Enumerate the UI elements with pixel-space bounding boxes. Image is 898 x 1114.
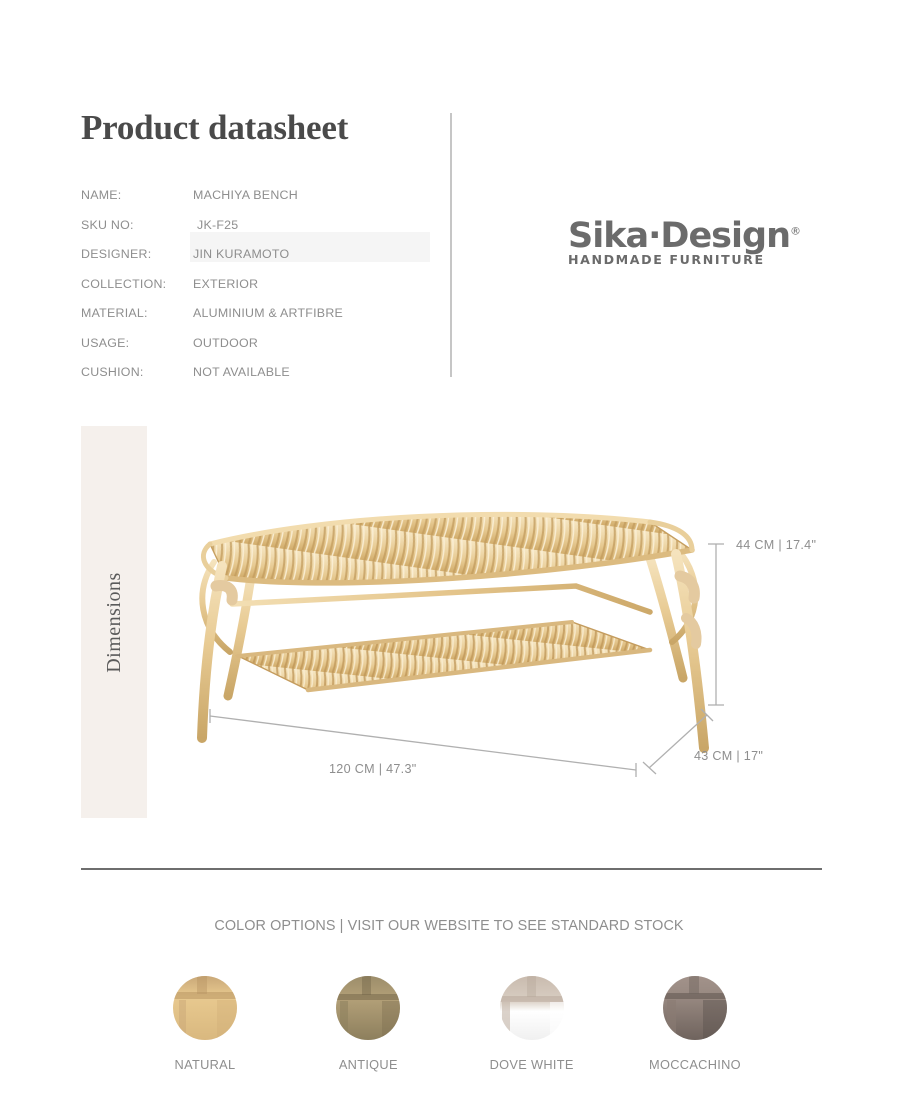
dimensions-side-panel: Dimensions [81,426,147,818]
color-swatch-row: NATURAL ANTIQUE [150,976,750,1072]
color-option-natural[interactable]: NATURAL [150,976,260,1072]
header-vertical-divider [450,113,452,377]
spec-row-collection: COLLECTION: EXTERIOR [81,277,441,307]
section-divider-rule [81,868,822,870]
color-option-antique[interactable]: ANTIQUE [313,976,423,1072]
spec-row-designer: DESIGNER: JIN KURAMOTO [81,247,441,277]
color-label-antique: ANTIQUE [339,1057,398,1072]
spec-label-collection: COLLECTION: [81,277,193,291]
bench-seat [210,514,692,583]
registered-trademark-icon: ® [790,224,801,237]
color-swatch-moccachino[interactable] [663,976,727,1040]
spec-label-material: MATERIAL: [81,306,193,320]
spec-value-sku: JK-F25 [193,218,238,232]
dimension-line-width [210,709,636,777]
brand-logo: Sika·Design® HANDMADE FURNITURE [568,219,793,267]
color-swatch-antique[interactable] [336,976,400,1040]
spec-value-material: ALUMINIUM & ARTFIBRE [193,306,343,320]
dimension-label-height: 44 CM | 17.4" [736,538,816,552]
dimension-label-depth: 43 CM | 17" [694,749,763,763]
spec-row-cushion: CUSHION: NOT AVAILABLE [81,365,441,395]
color-swatch-natural[interactable] [173,976,237,1040]
color-swatch-dove-white[interactable] [500,976,564,1040]
bench-stretcher [232,586,650,612]
spec-row-name: NAME: MACHIYA BENCH [81,188,441,218]
spec-row-usage: USAGE: OUTDOOR [81,336,441,366]
spec-label-cushion: CUSHION: [81,365,193,379]
brand-logo-name: Sika·Design [568,216,790,256]
dimension-label-width: 120 CM | 47.3" [329,762,417,776]
spec-value-name: MACHIYA BENCH [193,188,298,202]
spec-row-material: MATERIAL: ALUMINIUM & ARTFIBRE [81,306,441,336]
spec-value-collection: EXTERIOR [193,277,258,291]
spec-label-usage: USAGE: [81,336,193,350]
spec-label-name: NAME: [81,188,193,202]
color-options-heading: COLOR OPTIONS | VISIT OUR WEBSITE TO SEE… [0,918,898,934]
spec-row-sku: SKU NO: JK-F25 [81,218,441,248]
spec-value-designer: JIN KURAMOTO [193,247,289,261]
dimensions-panel-label: Dimensions [103,572,126,673]
spec-value-cushion: NOT AVAILABLE [193,365,290,379]
spec-value-usage: OUTDOOR [193,336,258,350]
color-option-moccachino[interactable]: MOCCACHINO [640,976,750,1072]
color-label-dove-white: DOVE WHITE [490,1057,574,1072]
color-option-dove-white[interactable]: DOVE WHITE [477,976,587,1072]
color-label-moccachino: MOCCACHINO [649,1057,741,1072]
dimension-line-height [708,544,724,705]
spec-label-sku: SKU NO: [81,218,193,232]
product-spec-list: NAME: MACHIYA BENCH SKU NO: JK-F25 DESIG… [81,188,441,395]
color-label-natural: NATURAL [175,1057,236,1072]
spec-label-designer: DESIGNER: [81,247,193,261]
page-title: Product datasheet [81,108,348,148]
brand-logo-wordmark: Sika·Design® [568,219,801,254]
dimensions-panel-label-wrap: Dimensions [81,426,147,818]
